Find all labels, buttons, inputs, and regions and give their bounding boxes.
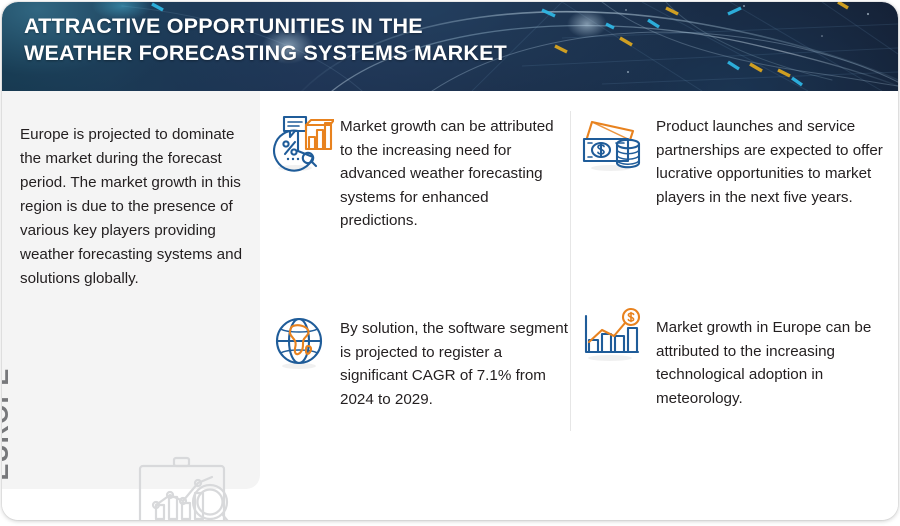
infographic-card: ATTRACTIVE OPPORTUNITIES IN THE WEATHER … [2, 2, 898, 520]
pie-chart-analytics-icon [268, 113, 334, 173]
globe-icon [268, 313, 334, 373]
money-banknote-coins-icon [578, 113, 644, 173]
growth-bar-chart-dollar-icon [578, 306, 644, 366]
insight-text: By solution, the software segment is pro… [340, 317, 572, 411]
insight-text: Market growth in Europe can be attribute… [656, 316, 886, 410]
region-summary-panel: Europe is projected to dominate the mark… [2, 91, 260, 489]
region-label: EUROPE [2, 359, 15, 489]
insights-grid: Market growth can be attributed to the i… [260, 91, 898, 489]
presentation-chart-magnifier-icon [128, 453, 240, 520]
header-banner: ATTRACTIVE OPPORTUNITIES IN THE WEATHER … [2, 2, 898, 91]
insight-text: Product launches and service partnership… [656, 115, 894, 209]
content-area: Europe is projected to dominate the mark… [2, 91, 898, 520]
region-summary-text: Europe is projected to dominate the mark… [20, 123, 242, 291]
page-title: ATTRACTIVE OPPORTUNITIES IN THE WEATHER … [24, 13, 624, 67]
insight-text: Market growth can be attributed to the i… [340, 115, 570, 233]
